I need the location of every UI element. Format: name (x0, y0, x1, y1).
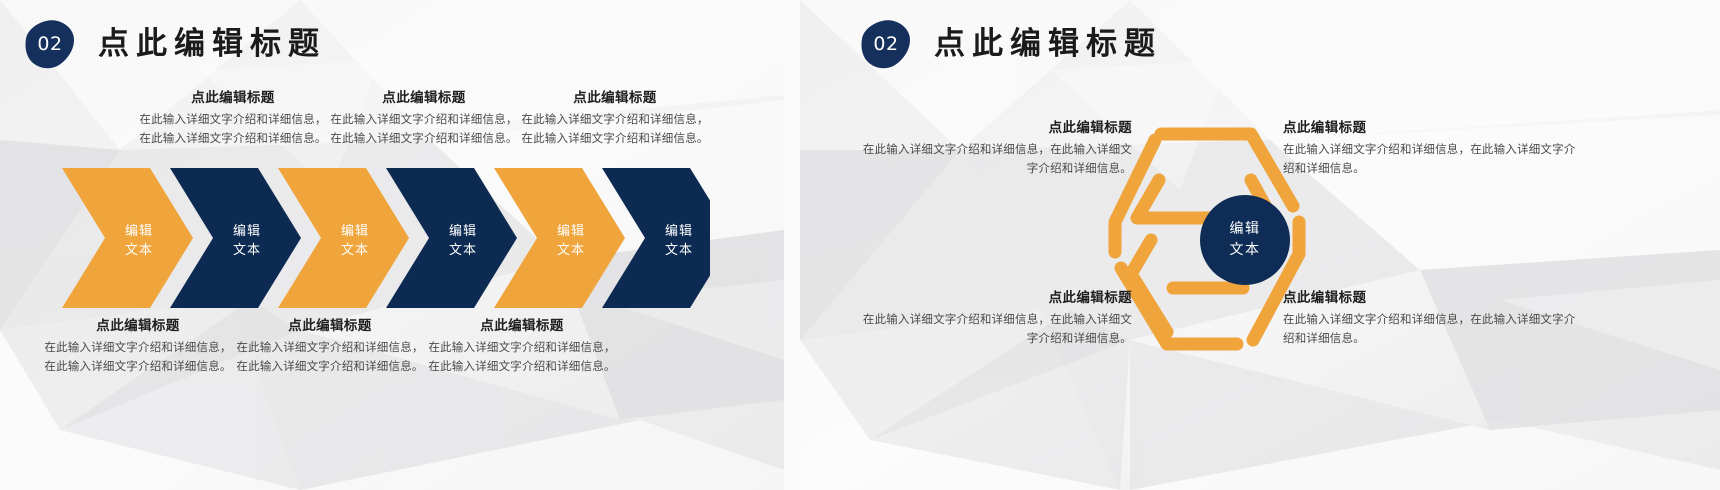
left-top-block-1-body: 在此输入详细文字介绍和详细信息，在此输入详细文字介绍和详细信息。 (138, 110, 328, 147)
right-block-top-right-title: 点此编辑标题 (1283, 118, 1583, 138)
presentation-canvas: 02 点此编辑标题 点此编辑标题 在此输入详细文字介绍和详细信息，在此输入详细文… (0, 0, 1720, 490)
section-number-text-right: 02 (873, 33, 898, 55)
left-bottom-block-1-title: 点此编辑标题 (40, 316, 236, 336)
left-bottom-block-1: 点此编辑标题 在此输入详细文字介绍和详细信息，在此输入详细文字介绍和详细信息。 (40, 316, 236, 376)
right-block-bottom-left-title: 点此编辑标题 (860, 288, 1132, 308)
right-block-top-right: 点此编辑标题 在此输入详细文字介绍和详细信息，在此输入详细文字介绍和详细信息。 (1283, 118, 1583, 178)
left-top-block-2: 点此编辑标题 在此输入详细文字介绍和详细信息，在此输入详细文字介绍和详细信息。 (329, 88, 519, 148)
hexagon-core-circle (1200, 195, 1290, 285)
left-bottom-block-2: 点此编辑标题 在此输入详细文字介绍和详细信息，在此输入详细文字介绍和详细信息。 (232, 316, 428, 376)
left-top-block-2-body: 在此输入详细文字介绍和详细信息，在此输入详细文字介绍和详细信息。 (329, 110, 519, 147)
right-block-bottom-left: 点此编辑标题 在此输入详细文字介绍和详细信息，在此输入详细文字介绍和详细信息。 (860, 288, 1132, 348)
right-block-bottom-right-body: 在此输入详细文字介绍和详细信息，在此输入详细文字介绍和详细信息。 (1283, 310, 1583, 347)
section-number-text: 02 (37, 33, 62, 55)
slide-right: 02 点此编辑标题 (800, 0, 1720, 490)
slide-left: 02 点此编辑标题 点此编辑标题 在此输入详细文字介绍和详细信息，在此输入详细文… (0, 0, 784, 490)
right-block-top-left-body: 在此输入详细文字介绍和详细信息，在此输入详细文字介绍和详细信息。 (860, 140, 1132, 177)
left-bottom-block-3: 点此编辑标题 在此输入详细文字介绍和详细信息，在此输入详细文字介绍和详细信息。 (424, 316, 620, 376)
right-block-top-right-body: 在此输入详细文字介绍和详细信息，在此输入详细文字介绍和详细信息。 (1283, 140, 1583, 177)
left-top-block-1-title: 点此编辑标题 (138, 88, 328, 108)
slide-left-header: 02 点此编辑标题 (24, 18, 326, 70)
section-number-badge: 02 (24, 18, 76, 70)
left-top-block-2-title: 点此编辑标题 (329, 88, 519, 108)
left-top-block-1: 点此编辑标题 在此输入详细文字介绍和详细信息，在此输入详细文字介绍和详细信息。 (138, 88, 328, 148)
right-block-bottom-right-title: 点此编辑标题 (1283, 288, 1583, 308)
slide-right-title: 点此编辑标题 (934, 29, 1162, 60)
right-block-bottom-right: 点此编辑标题 在此输入详细文字介绍和详细信息，在此输入详细文字介绍和详细信息。 (1283, 288, 1583, 348)
chevron-1 (62, 168, 193, 308)
left-top-block-3-title: 点此编辑标题 (520, 88, 710, 108)
right-block-top-left-title: 点此编辑标题 (860, 118, 1132, 138)
section-number-badge-right: 02 (860, 18, 912, 70)
left-bottom-block-2-body: 在此输入详细文字介绍和详细信息，在此输入详细文字介绍和详细信息。 (232, 338, 428, 375)
left-top-block-3: 点此编辑标题 在此输入详细文字介绍和详细信息，在此输入详细文字介绍和详细信息。 (520, 88, 710, 148)
left-top-block-3-body: 在此输入详细文字介绍和详细信息，在此输入详细文字介绍和详细信息。 (520, 110, 710, 147)
left-bottom-block-3-body: 在此输入详细文字介绍和详细信息，在此输入详细文字介绍和详细信息。 (424, 338, 620, 375)
slide-right-header: 02 点此编辑标题 (860, 18, 1162, 70)
left-bottom-block-2-title: 点此编辑标题 (232, 316, 428, 336)
chevron-process-diagram: 编辑 文本 编辑 文本 编辑 文本 编辑 文本 编辑 文本 编辑 文本 (62, 168, 710, 308)
left-bottom-block-3-title: 点此编辑标题 (424, 316, 620, 336)
right-block-top-left: 点此编辑标题 在此输入详细文字介绍和详细信息，在此输入详细文字介绍和详细信息。 (860, 118, 1132, 178)
left-bottom-block-1-body: 在此输入详细文字介绍和详细信息，在此输入详细文字介绍和详细信息。 (40, 338, 236, 375)
slide-left-title: 点此编辑标题 (98, 29, 326, 60)
right-block-bottom-left-body: 在此输入详细文字介绍和详细信息，在此输入详细文字介绍和详细信息。 (860, 310, 1132, 347)
